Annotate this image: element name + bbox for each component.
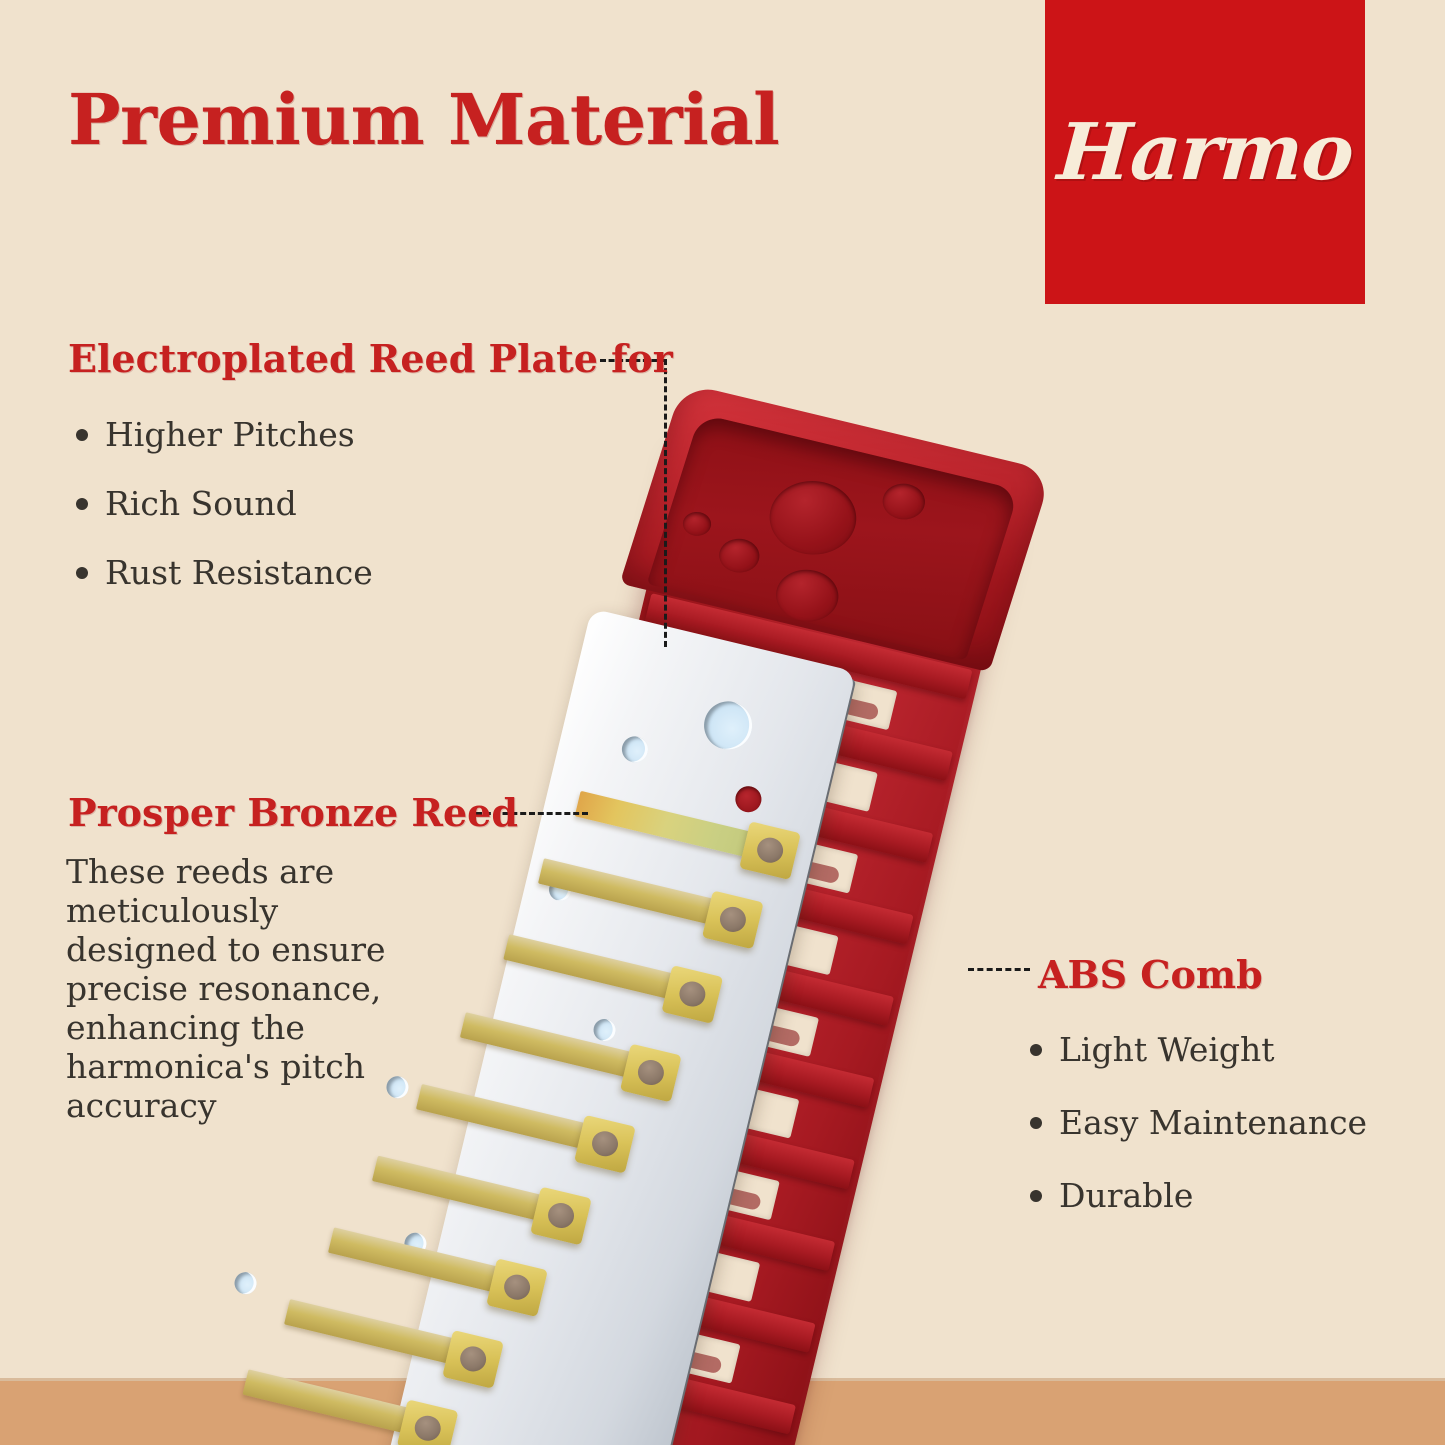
comb-slot (666, 724, 878, 811)
section-heading-abs-comb: ABS Comb (1038, 952, 1263, 997)
comb-top-shell (620, 383, 1053, 672)
comb-slot (549, 1214, 761, 1301)
bullet-dot-icon (76, 567, 88, 579)
bullet-dot-icon (1030, 1117, 1042, 1129)
page-title: Premium Material (68, 78, 779, 161)
section-paragraph-bronze-reed: These reeds are meticulously designed to… (66, 853, 396, 1126)
list-item: Durable (1030, 1176, 1367, 1215)
bronze-reed (416, 1084, 593, 1150)
comb-slot (529, 1296, 741, 1383)
plate-screw-hole (547, 876, 574, 903)
logo-wordmark: Harmo (1054, 107, 1355, 198)
floor-band (0, 1381, 1445, 1445)
comb-slot (607, 969, 819, 1056)
comb-slot (568, 1133, 780, 1220)
comb-slot (588, 1051, 800, 1138)
section-heading-bronze-reed: Prosper Bronze Reed (68, 790, 518, 835)
plate-vent-hole (733, 784, 764, 815)
section-heading-reed-plate: Electroplated Reed Plate for (68, 336, 673, 381)
abs-comb-graphic (363, 365, 1153, 1445)
reed-rivet-pad (739, 821, 801, 880)
plate-screw-hole (699, 696, 757, 754)
list-item-label: Higher Pitches (105, 415, 355, 454)
connector-line-reed-plate-vertical (664, 359, 667, 647)
list-item-label: Rich Sound (105, 484, 297, 523)
bullet-dot-icon (1030, 1044, 1042, 1056)
connector-line-abs-comb (968, 968, 1030, 971)
bullet-dot-icon (76, 429, 88, 441)
comb-nub (833, 695, 880, 721)
reed-rivet-pad (620, 1044, 682, 1103)
comb-rib (507, 1165, 835, 1271)
list-item-label: Durable (1059, 1176, 1193, 1215)
list-item: Rust Resistance (76, 553, 373, 592)
bronze-reed (328, 1227, 505, 1293)
comb-nub (676, 1349, 723, 1375)
comb-nub (794, 859, 841, 885)
comb-nub (755, 1022, 802, 1048)
comb-left-rail (454, 582, 711, 1432)
bronze-reed (538, 858, 721, 926)
comb-post (760, 472, 866, 563)
plate-screw-hole (402, 1230, 429, 1257)
comb-cavity (647, 414, 1020, 661)
list-item: Higher Pitches (76, 415, 373, 454)
list-item: Rich Sound (76, 484, 373, 523)
bullet-dot-icon (76, 498, 88, 510)
comb-post (769, 563, 845, 627)
comb-right-spine (701, 641, 983, 1445)
bronze-reed (503, 934, 680, 1000)
comb-slot (627, 888, 839, 975)
reed-rivet-pad (702, 890, 764, 949)
list-item-label: Light Weight (1059, 1030, 1275, 1069)
reed-plate (386, 608, 856, 1445)
reed-rivet-pad (661, 965, 723, 1024)
reed-rivet-pad (486, 1258, 548, 1317)
bronze-reed (460, 1012, 639, 1079)
comb-rib (566, 920, 894, 1026)
comb-nub (715, 1185, 762, 1211)
comb-rib (625, 675, 953, 781)
comb-post (680, 509, 714, 538)
harmo-logo: Harmo (1045, 0, 1365, 304)
comb-rib (586, 838, 914, 944)
bronze-reed (372, 1156, 549, 1222)
reed-rivet-pad (530, 1187, 592, 1246)
comb-rib (605, 757, 933, 863)
comb-slot (686, 643, 898, 730)
list-item: Easy Maintenance (1030, 1103, 1367, 1142)
comb-rib (645, 593, 973, 699)
bronze-reed (284, 1299, 461, 1365)
plate-screw-hole (619, 734, 650, 765)
comb-rib (547, 1002, 875, 1108)
reed-plate-edge (643, 678, 856, 1445)
plate-screw-hole (591, 1017, 618, 1044)
bullet-list-reed-plate: Higher Pitches Rich Sound Rust Resistanc… (76, 415, 373, 622)
bronze-reed (575, 791, 758, 859)
plate-screw-hole (232, 1270, 259, 1297)
comb-rib (488, 1247, 816, 1353)
infographic-canvas: Harmo Premium Material Electroplated Ree… (0, 0, 1445, 1445)
comb-slot (647, 806, 859, 893)
list-item-label: Easy Maintenance (1059, 1103, 1367, 1142)
comb-body (452, 444, 1011, 1445)
comb-rib (527, 1083, 855, 1189)
bullet-dot-icon (1030, 1190, 1042, 1202)
list-item: Light Weight (1030, 1030, 1367, 1069)
list-item-label: Rust Resistance (105, 553, 373, 592)
reed-rivet-pad (574, 1115, 636, 1174)
comb-post (715, 535, 764, 577)
comb-post (878, 479, 930, 523)
bullet-list-abs-comb: Light Weight Easy Maintenance Durable (1030, 1030, 1367, 1249)
